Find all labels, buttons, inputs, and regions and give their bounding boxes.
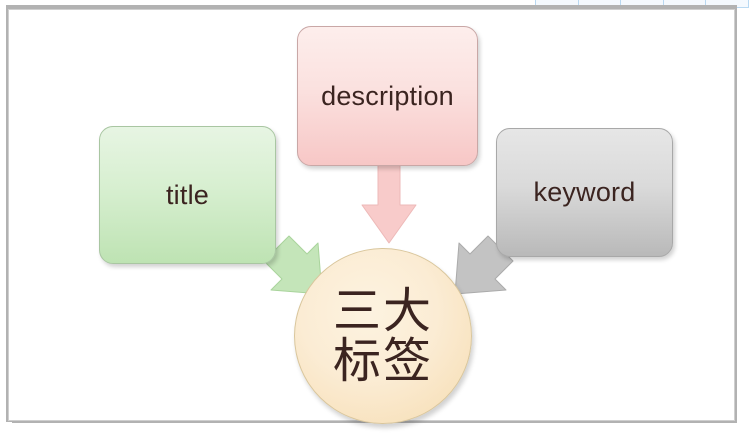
diagram-canvas: description title keyword 三大 标签 [8, 9, 735, 421]
node-title[interactable]: title [99, 126, 276, 264]
node-title-label: title [166, 182, 209, 209]
center-circle-label-line-1: 三大 [333, 286, 433, 336]
node-description[interactable]: description [297, 26, 478, 166]
center-circle-label-line-2: 标签 [333, 336, 433, 386]
node-description-label: description [321, 83, 454, 110]
arrow-description-to-center-icon [361, 158, 417, 244]
center-circle-node[interactable]: 三大 标签 [294, 248, 472, 424]
node-keyword[interactable]: keyword [496, 128, 673, 257]
node-keyword-label: keyword [534, 179, 636, 206]
